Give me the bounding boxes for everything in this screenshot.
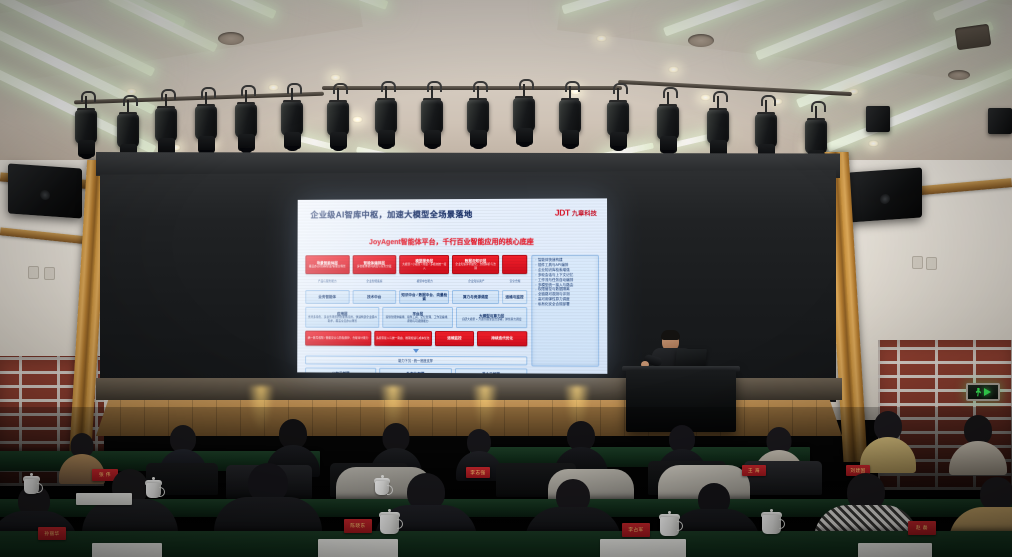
audience-member: [862, 411, 914, 471]
mug-knob: [152, 477, 155, 480]
line-array-speaker-left: [8, 163, 82, 218]
diagram-support-cell: 持续迭代优化: [477, 331, 527, 346]
ceiling-vent: [688, 34, 714, 47]
notepad: [76, 493, 132, 505]
line-array-speaker-right: [848, 167, 922, 222]
audience-area: 张 伟 李志强 王 海 刘建国: [0, 407, 1012, 557]
diagram-header-cell: 模型服务层 大模型 / 小模型 / 向量 / 多模态统一接入: [399, 255, 449, 274]
side-panel-item: ›私有化安全合规部署: [535, 303, 596, 307]
bullet-icon: ›: [535, 279, 536, 283]
slide-subtitle: JoyAgent智能体平台，千行百业智能应用的核心底座: [298, 237, 608, 248]
name-placard: 陈晓东: [344, 519, 372, 533]
diagram-header-cell: 数据与知识层 企业知识库向量化、文档解析与治理: [452, 255, 499, 274]
diagram-capability-cell: 知识中台 / 数据中台、向量检索: [399, 290, 449, 304]
mug-knob: [388, 509, 391, 512]
logo-chinese-name: 九章科技: [572, 208, 597, 217]
running-man-icon: [975, 388, 982, 397]
recessed-downlight: [268, 84, 279, 91]
notepad: [600, 539, 686, 557]
audience-torso: [949, 441, 1007, 475]
wall-socket: [44, 267, 55, 280]
recessed-downlight: [868, 140, 879, 147]
diagram-support-cell: 多模型接入与统一路由、推理加速与成本优化: [374, 331, 432, 346]
projection-screen: 企业级AI智库中枢，加速大模型全场景落地 JDT 九章科技 JoyAgent智能…: [297, 198, 607, 373]
diagram-layer-cell: 大模型与算力层 自研大模型 + 开源大模型混合部署，弹性算力调度: [456, 307, 527, 328]
notepad: [318, 539, 398, 557]
diagram-layer-cell: 平台层 提供智能体编排、插件工具、记忆管理、工作流编排、评测与可观测能力: [383, 307, 454, 328]
logo-mark: JDT: [555, 208, 570, 218]
mug-handle: [779, 519, 785, 529]
name-placard: 王 海: [742, 465, 766, 476]
diagram-caption-cell: 模型中台能力: [399, 277, 450, 287]
tea-mug: [660, 513, 679, 539]
speaker-cone: [880, 194, 890, 205]
diagram-header-cell: [502, 255, 527, 274]
recessed-downlight: [330, 74, 341, 81]
ceiling-vent: [218, 32, 244, 45]
par-can-light: [866, 106, 890, 132]
diagram-capability-cell: 业务智能体: [305, 290, 349, 304]
name-placard: 李占军: [622, 523, 650, 537]
tea-mug: [375, 477, 389, 497]
ceiling-vent: [948, 70, 970, 80]
presenter-hair: [661, 330, 680, 340]
diagram-capability-cell: 算力与资源调度: [452, 290, 499, 304]
diagram-header-cell: 场景智能体层 覆盖办公/营销/研发/客服全场景: [305, 255, 349, 274]
bullet-icon: ›: [535, 284, 536, 288]
tea-mug: [146, 479, 161, 500]
bullet-icon: ›: [535, 269, 536, 273]
diagram-header-cell: 智能体编排层 多智能体协同调度与任务分发: [352, 255, 396, 274]
diagram-caption-cell: 企业智能底座: [352, 277, 396, 287]
notepad: [92, 543, 162, 557]
ceiling: [0, 0, 1012, 176]
mug-knob: [668, 511, 671, 514]
diagram-down-arrow-icon: [413, 349, 419, 353]
mug-knob: [770, 509, 773, 512]
name-placard: 赵 磊: [908, 521, 936, 535]
slide-title: 企业级AI智库中枢，加速大模型全场景落地: [310, 208, 472, 221]
diagram-capability-row: 业务智能体 技术中台 知识中台 / 数据中台、向量检索 算力与资源调度 运维与监…: [305, 290, 527, 304]
diagram-capability-cell: 运维与监控: [502, 290, 527, 304]
name-placard: 孙丽华: [38, 527, 66, 540]
presentation-slide: 企业级AI智库中枢，加速大模型全场景落地 JDT 九章科技 JoyAgent智能…: [297, 198, 607, 373]
recessed-downlight: [668, 66, 679, 73]
diagram-support-cell: 运维监控: [435, 331, 474, 346]
exit-arrow-icon: [984, 388, 991, 396]
recessed-downlight: [352, 116, 363, 123]
wall-socket: [912, 256, 923, 269]
diagram-support-cell: 统一账号权限 / 数据安全与隐私保护、合规审计能力: [305, 331, 371, 346]
diagram-header-row: 场景智能体层 覆盖办公/营销/研发/客服全场景 智能体编排层 多智能体协同调度与…: [305, 255, 527, 274]
diagram-caption-cell: 安全合规: [503, 277, 527, 287]
diagram-support-row: 统一账号权限 / 数据安全与隐私保护、合规审计能力 多模型接入与统一路由、推理加…: [305, 331, 527, 347]
diagram-main-column: 场景智能体层 覆盖办公/营销/研发/客服全场景 智能体编排层 多智能体协同调度与…: [305, 255, 527, 367]
recessed-downlight: [596, 35, 607, 42]
company-logo: JDT 九章科技: [555, 207, 597, 217]
tea-mug: [762, 511, 781, 537]
diagram-layer-row: 应用层 支持多角色、多业务场景的智能体应用，快速构建企业级AI助手，覆盖全员办公…: [305, 307, 527, 328]
diagram-deployment-cell: 混合云部署: [455, 368, 528, 374]
side-panel-item: ›工作流与任务自动编排: [535, 279, 596, 283]
diagram-side-panel: ›智能体快速构建 ›插件工具与API编排 ›企业知识库检索增强 ›多轮会话与上下…: [531, 255, 599, 367]
audience-head: [980, 477, 1012, 511]
tea-mug: [380, 511, 399, 537]
wall-socket: [28, 266, 39, 279]
diagram-caption-row: 产品与服务能力 企业智能底座 模型中台能力 企业知识资产 安全合规: [305, 277, 527, 287]
emergency-exit-sign: [966, 383, 1000, 401]
recessed-downlight: [700, 94, 711, 101]
tea-mug: [24, 475, 39, 496]
bullet-icon: ›: [535, 303, 536, 307]
par-can-light: [988, 108, 1012, 134]
notepad: [858, 543, 932, 557]
bullet-icon: ›: [535, 274, 536, 278]
recessed-downlight: [126, 88, 137, 95]
diagram-caption-cell: 产品与服务能力: [305, 277, 349, 287]
lighting-truss: [618, 80, 852, 96]
audience-member: [952, 415, 1004, 473]
diagram-connector-label: 能力下沉 · 统一底座支撑: [305, 356, 527, 366]
diagram-caption-cell: 企业知识资产: [453, 277, 500, 287]
diagram-capability-cell: 技术中台: [352, 290, 396, 304]
ceiling-access-panel: [955, 24, 992, 51]
mug-knob: [30, 473, 33, 476]
mug-knob: [381, 475, 384, 478]
architecture-diagram: 场景智能体层 覆盖办公/营销/研发/客服全场景 智能体编排层 多智能体协同调度与…: [305, 255, 599, 367]
diagram-layer-cell: 应用层 支持多角色、多业务场景的智能体应用，快速构建企业级AI助手，覆盖全员办公…: [305, 307, 379, 328]
wall-socket: [926, 257, 937, 270]
bullet-icon: ›: [535, 289, 536, 293]
auditorium-presentation-scene: 企业级AI智库中枢，加速大模型全场景落地 JDT 九章科技 JoyAgent智能…: [0, 0, 1012, 557]
speaker-cone: [40, 190, 50, 201]
